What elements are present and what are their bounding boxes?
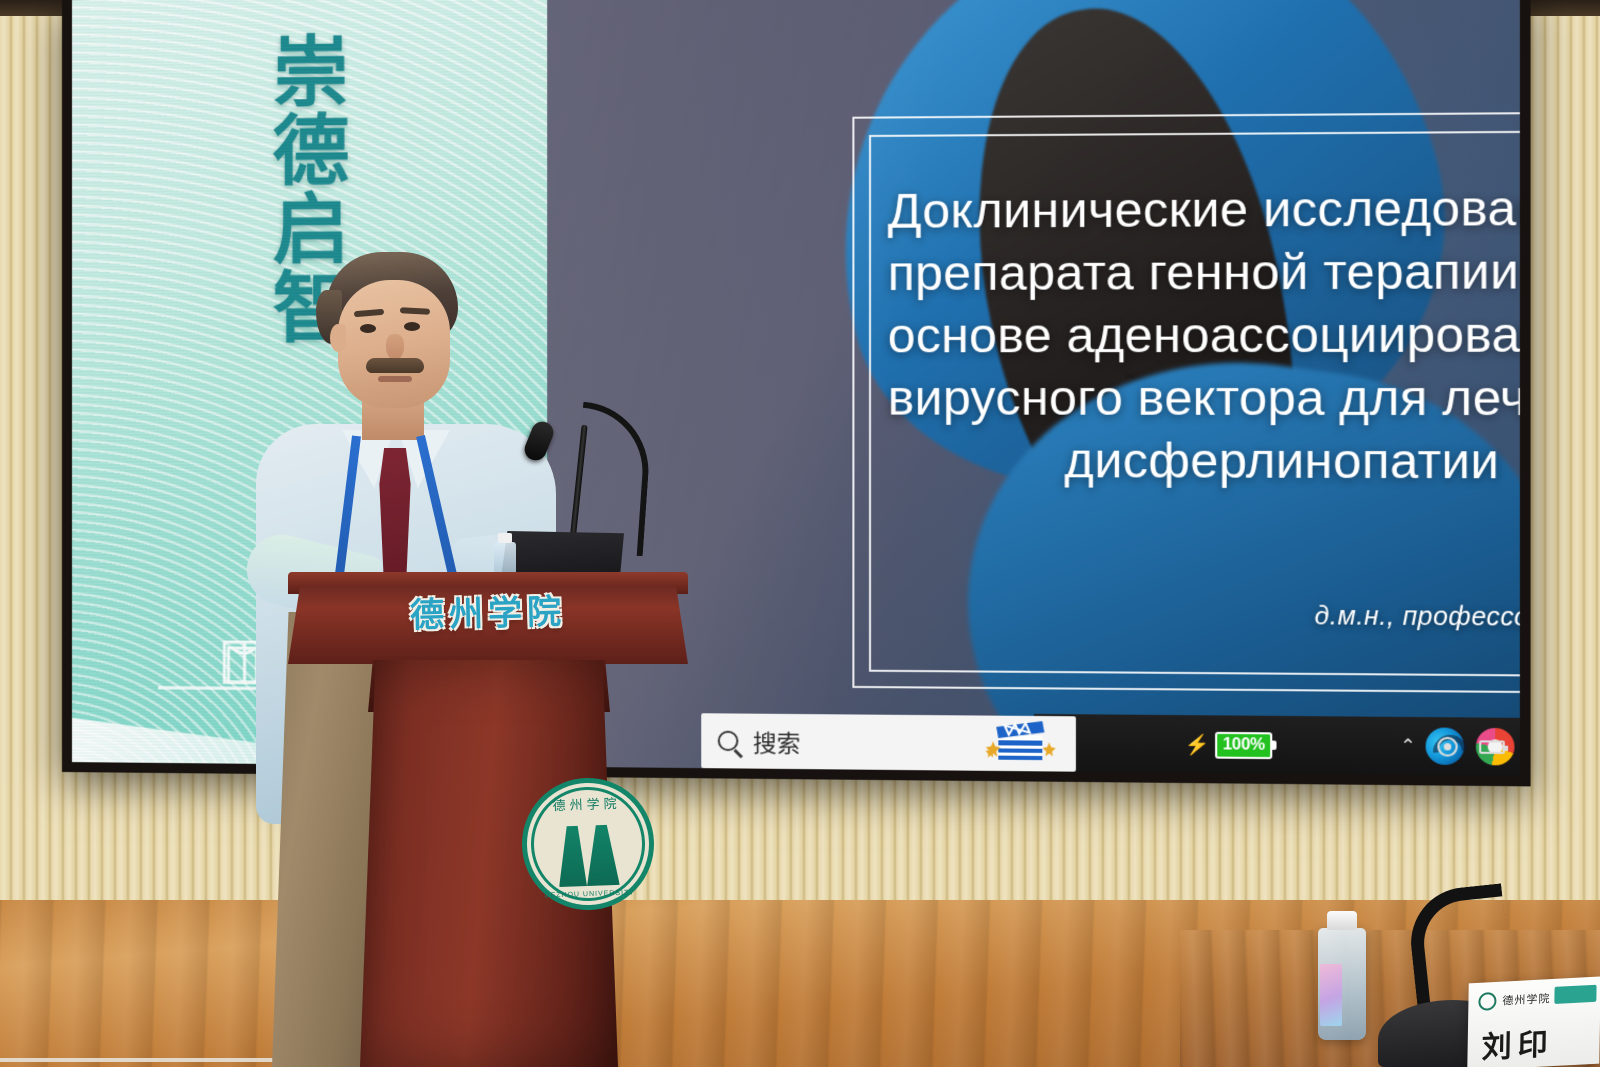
podium-front-text: 德州学院 xyxy=(287,573,688,647)
chevron-up-icon[interactable]: ⌃ xyxy=(1400,737,1416,756)
nameplate-logo-icon xyxy=(1478,992,1496,1011)
windows-taskbar[interactable]: ⌃ xyxy=(1034,714,1520,776)
slide-title-line-4: вирусного вектора для лечения xyxy=(888,368,1520,431)
delegate-nameplate: 德州学院 刘印 xyxy=(1467,976,1600,1067)
taskbar-search-box[interactable]: 搜索 xyxy=(701,713,1076,771)
slide-title-line-2: препарата генной терапии на xyxy=(888,241,1520,306)
speaker-mustache xyxy=(366,358,424,373)
clapperboard-icon[interactable] xyxy=(984,719,1057,765)
speaker-ear xyxy=(330,324,346,352)
battery-icon[interactable] xyxy=(1479,740,1505,754)
action-center-icon[interactable] xyxy=(1437,736,1457,756)
screenshot-stage: 崇德启智 Доклинические исследования препарат… xyxy=(0,0,1600,1067)
bottle-label xyxy=(1320,964,1342,1026)
search-placeholder: 搜索 xyxy=(753,724,801,759)
slide-title-line-3: основе аденоассоциированного xyxy=(888,305,1520,369)
nameplate-name: 刘印 xyxy=(1481,1019,1554,1067)
speaker-eye-left xyxy=(360,324,376,333)
slide-title-line-1: Доклинические исследования xyxy=(888,178,1520,244)
table-water-bottle xyxy=(1318,928,1366,1040)
battery-percent-label: 100% xyxy=(1215,732,1272,759)
slide-author: д.м.н., профессор Покровс xyxy=(1315,602,1520,634)
slide-title: Доклинические исследования препарата ген… xyxy=(888,178,1520,495)
speaker-nose xyxy=(386,334,404,360)
bottle-cap xyxy=(1327,911,1357,930)
slide-title-line-5: дисферлинопатии xyxy=(888,431,1520,495)
system-tray: ⌃ xyxy=(1400,736,1505,757)
nameplate-org: 德州学院 xyxy=(1502,990,1550,1009)
charging-bolt-icon: ⚡ xyxy=(1185,735,1210,755)
nameplate-tag xyxy=(1554,985,1596,1004)
presentation-slide: Доклинические исследования препарата ген… xyxy=(547,0,1520,776)
university-emblem: 德州学院 DEZHOU UNIVERSITY xyxy=(520,776,657,913)
battery-status-badge: ⚡ 100% xyxy=(1185,732,1272,760)
search-icon xyxy=(718,731,739,752)
speaker-eye-right xyxy=(404,322,420,331)
speaker-mouth xyxy=(378,376,412,382)
